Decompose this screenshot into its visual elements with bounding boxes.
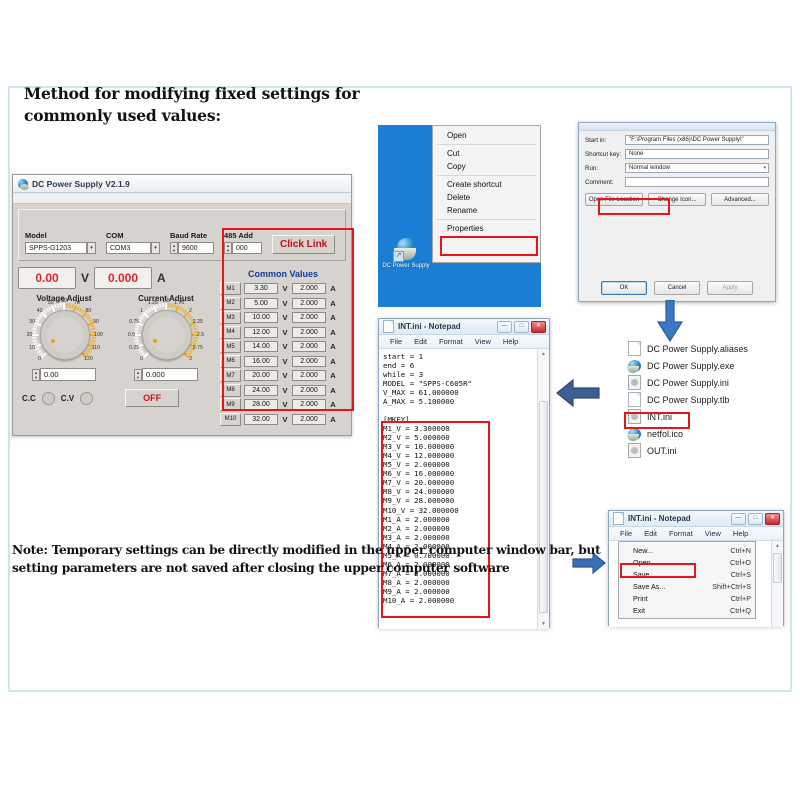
file-menu-shortcut: Shift+Ctrl+S: [712, 582, 751, 591]
address-stepper[interactable]: ▲▼: [224, 242, 232, 254]
common-value-row: M9 28.00 V 2.000 A: [220, 398, 346, 411]
common-values-panel: Common Values M1 3.30 V 2.000 A M2 5.00 …: [220, 267, 346, 427]
file-name: DC Power Supply.aliases: [647, 344, 748, 354]
menu-help[interactable]: Help: [503, 337, 518, 346]
current-stepper[interactable]: ▲▼: [134, 369, 142, 381]
unit-amp: A: [329, 400, 337, 409]
memory-voltage-m6[interactable]: 16.00: [244, 356, 278, 367]
vertical-scrollbar[interactable]: ▲: [771, 541, 783, 627]
cv-label: C.V: [61, 394, 74, 403]
file-menu-label: Save: [633, 570, 649, 579]
file-menu-item-print[interactable]: Print Ctrl+P: [619, 592, 755, 604]
menu-file[interactable]: File: [620, 529, 632, 538]
cancel-button[interactable]: Cancel: [654, 281, 700, 295]
start-in-input[interactable]: "F:\Program Files (x86)\DC Power Supply\…: [625, 135, 769, 145]
status-row: C.C C.V OFF: [22, 389, 214, 407]
shortcut-key-row: Shortcut key: None: [585, 149, 769, 159]
menu-edit[interactable]: Edit: [414, 337, 427, 346]
file-name: OUT.ini: [647, 446, 677, 456]
voltage-stepper[interactable]: ▲▼: [32, 369, 40, 381]
address-input[interactable]: 000: [232, 242, 262, 254]
knob-tick-label: 1.5: [162, 298, 169, 304]
knob-tick-label: 10: [29, 345, 35, 351]
unit-amp: A: [329, 371, 337, 380]
memory-voltage-m7[interactable]: 20.00: [244, 370, 278, 381]
memory-button-m6[interactable]: M6: [220, 355, 241, 368]
file-menu-shortcut: Ctrl+O: [730, 558, 751, 567]
scroll-up-icon[interactable]: ▲: [772, 541, 783, 551]
ini-header-text: start = 1 end = 6 while = 3 MODEL = "SPP…: [379, 349, 549, 407]
desktop-shortcut-dc-power-supply[interactable]: ↗ DC Power Supply: [382, 238, 430, 270]
globe-app-icon: ↗: [393, 238, 419, 262]
address-label: 485 Add: [224, 231, 262, 240]
knob-tick-label: 0.25: [129, 345, 139, 351]
model-input[interactable]: SPPS-G1203: [25, 242, 87, 254]
menu-view[interactable]: View: [705, 529, 721, 538]
current-setpoint-field[interactable]: ▲▼ 0.000: [134, 368, 198, 381]
start-in-row: Start in: "F:\Program Files (x86)\DC Pow…: [585, 135, 769, 145]
memory-voltage-m8[interactable]: 24.00: [244, 385, 278, 396]
voltage-readout: 0.00: [18, 267, 76, 289]
file-menu-item-exit[interactable]: Exit Ctrl+Q: [619, 604, 755, 616]
knob-tick-label: 0.5: [128, 332, 135, 338]
menu-help[interactable]: Help: [733, 529, 748, 538]
memory-button-m10[interactable]: M10: [220, 413, 241, 426]
knob-tick-label: 0: [38, 356, 41, 362]
file-name: INT.ini: [647, 412, 672, 422]
notepad1-menubar: File Edit Format View Help: [379, 335, 549, 349]
file-name: DC Power Supply.ini: [647, 378, 729, 388]
desktop-shortcut-label: DC Power Supply: [382, 263, 430, 270]
unit-volt: V: [281, 299, 289, 308]
knob-tick-label: 3: [189, 356, 192, 362]
unit-volt: V: [281, 415, 289, 424]
address-field[interactable]: 485 Add ▲▼ 000: [224, 231, 262, 254]
scroll-up-icon[interactable]: ▲: [538, 349, 549, 359]
menu-separator: [437, 219, 536, 220]
memory-voltage-m3[interactable]: 10.00: [244, 312, 278, 323]
common-value-row: M10 32.00 V 2.000 A: [220, 413, 346, 426]
notepad1-titlebar: INT.ini - Notepad — □ ✕: [379, 319, 549, 335]
file-row[interactable]: netfol.ico: [616, 425, 786, 442]
common-value-row: M7 20.00 V 2.000 A: [220, 369, 346, 382]
memory-current-m1[interactable]: 2.000: [292, 283, 326, 294]
knob-tick-label: 90: [93, 319, 99, 325]
file-menu-label: Open...: [633, 558, 657, 567]
menu-format[interactable]: Format: [669, 529, 693, 538]
chevron-down-icon: ▾: [763, 165, 766, 171]
memory-voltage-m1[interactable]: 3.30: [244, 283, 278, 294]
knob-tick-label: 1: [140, 308, 143, 314]
menu-item-create-shortcut[interactable]: Create shortcut: [433, 178, 540, 191]
minimize-button[interactable]: —: [731, 513, 746, 525]
dcps-menustrip: [13, 193, 351, 204]
memory-voltage-m4[interactable]: 12.00: [244, 327, 278, 338]
properties-button-row: Open File Location Change Icon... Advanc…: [585, 193, 769, 206]
knob-tick-label: 120: [84, 356, 93, 362]
menu-edit[interactable]: Edit: [644, 529, 657, 538]
common-value-row: M3 10.00 V 2.000 A: [220, 311, 346, 324]
desktop-context-area: Open Cut Copy Create shortcut Delete Ren…: [378, 125, 541, 307]
menu-item-cut[interactable]: Cut: [433, 147, 540, 160]
notepad-window-save: INT.ini - Notepad — □ ✕ File Edit Format…: [608, 510, 784, 626]
memory-current-m3[interactable]: 2.000: [292, 312, 326, 323]
unit-volt: V: [281, 328, 289, 337]
close-button[interactable]: ✕: [765, 513, 780, 525]
unit-volt: V: [281, 313, 289, 322]
memory-current-m10[interactable]: 2.000: [292, 414, 326, 425]
memory-button-m1[interactable]: M1: [220, 282, 241, 295]
file-row[interactable]: OUT.ini: [616, 442, 786, 459]
memory-button-m3[interactable]: M3: [220, 311, 241, 324]
apply-button[interactable]: Apply: [707, 281, 753, 295]
chevron-down-icon[interactable]: ▾: [151, 242, 160, 254]
memory-button-m9[interactable]: M9: [220, 398, 241, 411]
file-menu-shortcut: Ctrl+P: [731, 594, 751, 603]
common-value-row: M5 14.00 V 2.000 A: [220, 340, 346, 353]
cc-label: C.C: [22, 394, 36, 403]
knob-tick-label: 50: [48, 300, 54, 306]
memory-button-m5[interactable]: M5: [220, 340, 241, 353]
context-menu: Open Cut Copy Create shortcut Delete Ren…: [432, 125, 541, 263]
run-select-value: Normal window: [629, 165, 670, 171]
file-row[interactable]: DC Power Supply.aliases: [616, 340, 786, 357]
knob-tick-label: 30: [29, 319, 35, 325]
ini-file-icon: [628, 409, 641, 424]
cv-indicator: [80, 392, 93, 405]
unit-amp: A: [329, 386, 337, 395]
com-input[interactable]: COM3: [106, 242, 151, 254]
menu-item-properties[interactable]: Properties: [433, 222, 540, 235]
common-value-row: M8 24.00 V 2.000 A: [220, 384, 346, 397]
common-value-row: M6 16.00 V 2.000 A: [220, 355, 346, 368]
menu-separator: [437, 175, 536, 176]
baud-rate-input[interactable]: 9600: [178, 242, 214, 254]
file-menu-label: Save As...: [633, 582, 665, 591]
voltage-knob[interactable]: 0102030405060708090100110120: [27, 304, 101, 366]
properties-titlebar: [579, 123, 775, 131]
page-title: Method for modifying fixed settings for …: [24, 83, 374, 128]
globe-app-icon: [628, 360, 641, 372]
file-name: DC Power Supply.tlb: [647, 395, 729, 405]
memory-voltage-m10[interactable]: 32.00: [244, 414, 278, 425]
com-label: COM: [106, 231, 160, 240]
common-value-row: M4 12.00 V 2.000 A: [220, 326, 346, 339]
maximize-button[interactable]: □: [514, 321, 529, 333]
file-dropdown-menu: New... Ctrl+N Open... Ctrl+O Save Ctrl+S…: [618, 541, 756, 619]
arrow-down-icon: [656, 300, 684, 342]
unit-amp: A: [329, 299, 337, 308]
output-toggle-button[interactable]: OFF: [125, 389, 179, 407]
comment-row: Comment:: [585, 177, 769, 187]
memory-current-m8[interactable]: 2.000: [292, 385, 326, 396]
common-value-row: M2 5.00 V 2.000 A: [220, 297, 346, 310]
properties-footer: OK Cancel Apply: [579, 281, 775, 295]
shortcut-key-input[interactable]: None: [625, 149, 769, 159]
common-values-title: Common Values: [220, 269, 346, 279]
common-value-row: M1 3.30 V 2.000 A: [220, 282, 346, 295]
notepad-window-int-ini: INT.ini - Notepad — □ ✕ File Edit Format…: [378, 318, 550, 628]
knob-tick-label: 1.25: [148, 300, 158, 306]
current-adjust-group: Current Adjust 00.250.50.7511.251.51.752…: [120, 294, 212, 381]
knob-tick-label: 2.5: [197, 332, 204, 338]
unit-volt: V: [281, 284, 289, 293]
memory-current-m5[interactable]: 2.000: [292, 341, 326, 352]
knob-tick-label: 2.25: [193, 319, 203, 325]
advanced-button[interactable]: Advanced...: [711, 193, 769, 206]
knob-tick-label: 60: [61, 298, 67, 304]
voltage-setpoint-field[interactable]: ▲▼ 0.00: [32, 368, 96, 381]
file-menu-shortcut: Ctrl+S: [731, 570, 751, 579]
current-knob-dial[interactable]: [142, 310, 192, 360]
unit-volt: V: [281, 342, 289, 351]
unit-amp: A: [329, 357, 337, 366]
voltage-setpoint-input[interactable]: 0.00: [40, 368, 96, 381]
knob-tick-label: 1.75: [174, 300, 184, 306]
knob-tick-label: 100: [94, 332, 103, 338]
unit-amp: A: [329, 284, 337, 293]
file-menu-item-new[interactable]: New... Ctrl+N: [619, 544, 755, 556]
unit-volt: V: [281, 400, 289, 409]
notepad-icon: [383, 320, 394, 333]
vertical-scrollbar[interactable]: ▲ ▼: [537, 349, 549, 629]
globe-app-icon: [18, 179, 28, 189]
memory-current-m2[interactable]: 2.000: [292, 298, 326, 309]
knob-tick-label: 40: [37, 308, 43, 314]
change-icon-button[interactable]: Change Icon...: [648, 193, 706, 206]
com-field[interactable]: COM COM3 ▾: [106, 231, 160, 254]
menu-file[interactable]: File: [390, 337, 402, 346]
voltage-knob-dial[interactable]: [40, 310, 90, 360]
voltage-unit: V: [81, 271, 89, 285]
close-button[interactable]: ✕: [531, 321, 546, 333]
memory-current-m7[interactable]: 2.000: [292, 370, 326, 381]
unit-volt: V: [281, 386, 289, 395]
scroll-down-icon[interactable]: ▼: [538, 619, 549, 629]
memory-button-m8[interactable]: M8: [220, 384, 241, 397]
knob-tick-label: 80: [86, 308, 92, 314]
scrollbar-thumb[interactable]: [773, 553, 782, 583]
knob-tick-label: 20: [27, 332, 33, 338]
baud-rate-label: Baud Rate: [170, 231, 214, 240]
memory-voltage-m5[interactable]: 14.00: [244, 341, 278, 352]
unit-volt: V: [281, 371, 289, 380]
document-icon: [628, 392, 641, 407]
ini-file-icon: [628, 443, 641, 458]
document-icon: [628, 341, 641, 356]
knob-tick-label: 70: [74, 300, 80, 306]
baud-rate-field[interactable]: Baud Rate ▲▼ 9600: [170, 231, 214, 254]
knob-tick-label: 110: [92, 345, 100, 351]
unit-amp: A: [329, 328, 337, 337]
file-name: netfol.ico: [647, 429, 683, 439]
knob-tick-label: 0: [140, 356, 143, 362]
notepad1-text-area[interactable]: start = 1 end = 6 while = 3 MODEL = "SPP…: [379, 349, 549, 629]
cc-indicator: [42, 392, 55, 405]
menu-item-rename[interactable]: Rename: [433, 204, 540, 217]
chevron-down-icon[interactable]: ▾: [87, 242, 96, 254]
file-row[interactable]: DC Power Supply.ini: [616, 374, 786, 391]
menu-item-delete[interactable]: Delete: [433, 191, 540, 204]
file-menu-shortcut: Ctrl+Q: [730, 606, 751, 615]
open-file-location-button[interactable]: Open File Location: [585, 193, 643, 206]
file-row[interactable]: DC Power Supply.tlb: [616, 391, 786, 408]
unit-amp: A: [329, 313, 337, 322]
run-select[interactable]: Normal window ▾: [625, 163, 769, 173]
file-menu-label: Exit: [633, 606, 645, 615]
model-field[interactable]: Model SPPS-G1203 ▾: [25, 231, 96, 254]
memory-button-m2[interactable]: M2: [220, 297, 241, 310]
memory-current-m6[interactable]: 2.000: [292, 356, 326, 367]
file-row[interactable]: INT.ini: [616, 408, 786, 425]
file-menu-label: New...: [633, 546, 653, 555]
knob-tick-label: 2: [189, 308, 192, 314]
shortcut-arrow-icon: ↗: [393, 251, 404, 262]
common-values-rows: M1 3.30 V 2.000 A M2 5.00 V 2.000 A M3 1…: [220, 282, 346, 426]
menu-separator: [437, 144, 536, 145]
scrollbar-thumb[interactable]: [539, 401, 548, 613]
unit-amp: A: [329, 415, 337, 424]
run-row: Run: Normal window ▾: [585, 163, 769, 173]
menu-format[interactable]: Format: [439, 337, 463, 346]
file-menu-item-saveas[interactable]: Save As... Shift+Ctrl+S: [619, 580, 755, 592]
ini-file-icon: [628, 375, 641, 390]
maximize-button[interactable]: □: [748, 513, 763, 525]
file-name: DC Power Supply.exe: [647, 361, 734, 371]
current-readout: 0.000: [94, 267, 152, 289]
arrow-left-icon: [556, 378, 600, 408]
notepad2-title: INT.ini - Notepad: [628, 514, 691, 523]
file-rows: DC Power Supply.aliases DC Power Supply.…: [616, 340, 786, 459]
click-link-button[interactable]: Click Link: [272, 235, 335, 254]
start-in-label: Start in:: [585, 137, 625, 144]
memory-button-m7[interactable]: M7: [220, 369, 241, 382]
file-explorer-list: DC Power Supply.aliases DC Power Supply.…: [616, 340, 786, 468]
notepad2-titlebar: INT.ini - Notepad — □ ✕: [609, 511, 783, 527]
notepad2-text-area[interactable]: New... Ctrl+N Open... Ctrl+O Save Ctrl+S…: [609, 541, 783, 627]
comment-input[interactable]: [625, 177, 769, 187]
dcps-titlebar: DC Power Supply V2.1.9: [13, 175, 351, 193]
menu-item-open[interactable]: Open: [433, 129, 540, 142]
baud-rate-stepper[interactable]: ▲▼: [170, 242, 178, 254]
current-knob[interactable]: 00.250.50.7511.251.51.7522.252.52.753: [129, 304, 203, 366]
dcps-left-pane: 0.00 V 0.000 A Voltage Adjust 0102030405…: [18, 267, 214, 427]
footer-note: Note: Temporary settings can be directly…: [12, 541, 612, 578]
file-menu-label: Print: [633, 594, 648, 603]
menu-view[interactable]: View: [475, 337, 491, 346]
dcps-title: DC Power Supply V2.1.9: [32, 179, 130, 189]
unit-amp: A: [329, 342, 337, 351]
memory-current-m4[interactable]: 2.000: [292, 327, 326, 338]
shortcut-properties-dialog: Start in: "F:\Program Files (x86)\DC Pow…: [578, 122, 776, 302]
run-label: Run:: [585, 165, 625, 172]
unit-volt: V: [281, 357, 289, 366]
notepad1-title: INT.ini - Notepad: [398, 322, 461, 331]
memory-current-m9[interactable]: 2.000: [292, 399, 326, 410]
readout-row: 0.00 V 0.000 A: [18, 267, 214, 289]
file-menu-item-save[interactable]: Save Ctrl+S: [619, 568, 755, 580]
shortcut-key-label: Shortcut key:: [585, 151, 625, 158]
dc-power-supply-window: DC Power Supply V2.1.9 Model SPPS-G1203 …: [12, 174, 352, 436]
knob-tick-label: 0.75: [129, 319, 139, 325]
notepad-icon: [613, 512, 624, 525]
memory-voltage-m2[interactable]: 5.00: [244, 298, 278, 309]
current-setpoint-input[interactable]: 0.000: [142, 368, 198, 381]
dcps-connection-bar: Model SPPS-G1203 ▾ COM COM3 ▾ Baud Rate …: [18, 209, 346, 261]
ok-button[interactable]: OK: [601, 281, 647, 295]
current-unit: A: [157, 271, 166, 285]
minimize-button[interactable]: —: [497, 321, 512, 333]
memory-voltage-m9[interactable]: 28.00: [244, 399, 278, 410]
comment-label: Comment:: [585, 179, 625, 186]
memory-button-m4[interactable]: M4: [220, 326, 241, 339]
knob-tick-label: 2.75: [193, 345, 203, 351]
file-menu-item-open[interactable]: Open... Ctrl+O: [619, 556, 755, 568]
globe-app-icon: [628, 428, 641, 440]
notepad2-menubar: File Edit Format View Help: [609, 527, 783, 541]
file-row[interactable]: DC Power Supply.exe: [616, 357, 786, 374]
file-menu-shortcut: Ctrl+N: [730, 546, 751, 555]
voltage-adjust-group: Voltage Adjust 0102030405060708090100110…: [18, 294, 110, 381]
menu-item-copy[interactable]: Copy: [433, 160, 540, 173]
model-label: Model: [25, 231, 96, 240]
